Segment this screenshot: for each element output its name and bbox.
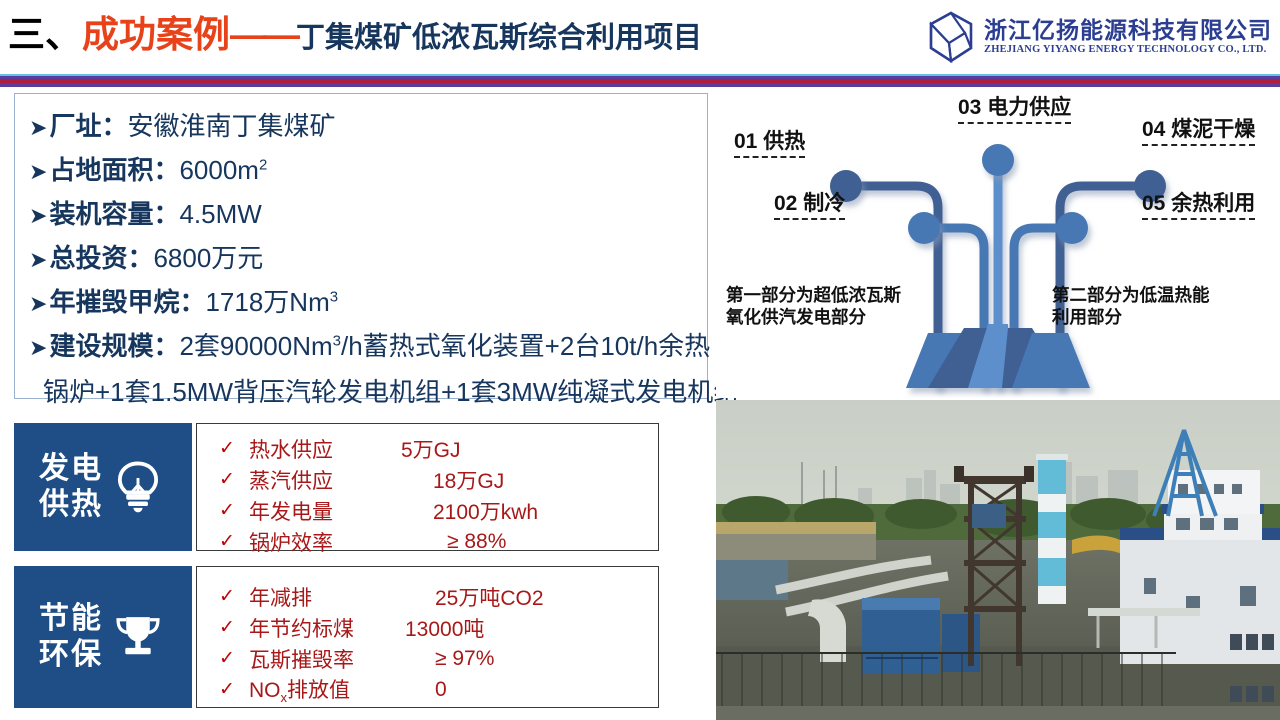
- info-value: 4.5MW: [179, 199, 261, 230]
- info-value: 2套90000Nm3/h蓄热式氧化装置+2台10t/h余热: [179, 326, 710, 363]
- hexagon-logo-icon: [928, 11, 974, 63]
- list-item: ➤ 占地面积： 6000m2: [29, 150, 707, 194]
- metric-label: NOx排放值: [249, 674, 401, 705]
- diagram-label-04: 04 煤泥干燥: [1142, 118, 1255, 146]
- fan-base: [906, 324, 1090, 388]
- table-row: ✓ 年节约标煤 13000吨: [197, 612, 658, 643]
- page-title: 三、成功案例——丁集煤矿低浓瓦斯综合利用项目: [8, 12, 702, 61]
- title-main: 成功案例: [82, 14, 230, 55]
- list-item: ➤ 年摧毁甲烷： 1718万Nm3: [29, 282, 707, 326]
- metric-label: 锅炉效率: [249, 527, 401, 557]
- logo-company-cn: 浙江亿扬能源科技有限公司: [984, 17, 1272, 43]
- check-icon: ✓: [219, 499, 249, 522]
- trophy-icon: [109, 608, 167, 666]
- metric-value: 2100万kwh: [401, 496, 538, 526]
- power-heat-metrics-box: ✓ 热水供应 5万GJ ✓ 蒸汽供应 18万GJ ✓ 年发电量 2100万kwh…: [196, 423, 659, 551]
- list-item: ➤ 建设规模： 2套90000Nm3/h蓄热式氧化装置+2台10t/h余热: [29, 326, 707, 370]
- energy-env-metrics-box: ✓ 年减排 25万吨CO2 ✓ 年节约标煤 13000吨 ✓ 瓦斯摧毁率 ≥ 9…: [196, 566, 659, 708]
- slide-root: 三、成功案例——丁集煤矿低浓瓦斯综合利用项目 浙江亿扬能源科技有限公司 ZHEJ…: [0, 0, 1280, 720]
- lightbulb-icon: [109, 458, 167, 516]
- diagram-label-02: 02 制冷: [774, 192, 845, 220]
- info-key: 装机容量：: [49, 194, 179, 231]
- section-tag-energy-env: 节能 环保: [14, 566, 192, 708]
- check-icon: ✓: [219, 585, 249, 608]
- project-info-box: ➤ 厂址： 安徽淮南丁集煤矿 ➤ 占地面积： 6000m2 ➤ 装机容量： 4.…: [14, 93, 708, 399]
- info-value: 6000m2: [179, 155, 267, 186]
- metric-value: 0: [401, 678, 447, 702]
- info-key: 建设规模：: [49, 326, 179, 363]
- info-key: 总投资：: [49, 238, 153, 275]
- diagram-label-05: 05 余热利用: [1142, 192, 1255, 220]
- info-value: 6800万元: [153, 238, 263, 275]
- site-photo-illustration: [716, 400, 1280, 720]
- table-row: ✓ 年发电量 2100万kwh: [197, 495, 658, 526]
- bullet-arrow-icon: ➤: [29, 249, 47, 271]
- diagram-note-left: 第一部分为超低浓瓦斯 氧化供汽发电部分: [726, 284, 901, 328]
- info-value: 1718万Nm3: [205, 282, 338, 319]
- metric-label: 热水供应: [249, 434, 401, 464]
- info-key: 年摧毁甲烷：: [49, 282, 205, 319]
- bullet-arrow-icon: ➤: [29, 161, 47, 183]
- diagram-label-03: 03 电力供应: [958, 96, 1071, 124]
- metric-label: 瓦斯摧毁率: [249, 644, 401, 674]
- metric-label: 年发电量: [249, 496, 401, 526]
- project-info-list: ➤ 厂址： 安徽淮南丁集煤矿 ➤ 占地面积： 6000m2 ➤ 装机容量： 4.…: [15, 94, 707, 414]
- metric-value: 18万GJ: [401, 465, 504, 495]
- title-subtitle: 丁集煤矿低浓瓦斯综合利用项目: [296, 22, 702, 54]
- bullet-arrow-icon: ➤: [29, 205, 47, 227]
- metric-value: 13000吨: [401, 613, 484, 643]
- check-icon: ✓: [219, 530, 249, 553]
- node-02: [908, 212, 940, 244]
- table-row: ✓ 热水供应 5万GJ: [197, 433, 658, 464]
- table-row: ✓ NOx排放值 0: [197, 674, 658, 705]
- metric-value: 5万GJ: [401, 434, 461, 464]
- bullet-arrow-icon: ➤: [29, 117, 47, 139]
- node-05: [1056, 212, 1088, 244]
- energy-flow-diagram: 01 供热 02 制冷 03 电力供应 04 煤泥干燥 05 余热利用 第一部分…: [716, 88, 1280, 398]
- list-item: ➤ 总投资： 6800万元: [29, 238, 707, 282]
- title-number: 三、: [8, 14, 82, 55]
- metric-label: 年减排: [249, 582, 401, 612]
- list-item: ➤ 装机容量： 4.5MW: [29, 194, 707, 238]
- metric-label: 年节约标煤: [249, 613, 401, 643]
- info-value: 安徽淮南丁集煤矿: [127, 106, 335, 143]
- table-row: ✓ 瓦斯摧毁率 ≥ 97%: [197, 643, 658, 674]
- metric-value: ≥ 88%: [401, 530, 506, 554]
- section-tag-label: 发电 供热: [39, 451, 103, 523]
- check-icon: ✓: [219, 616, 249, 639]
- table-row: ✓ 年减排 25万吨CO2: [197, 581, 658, 612]
- table-row: ✓ 蒸汽供应 18万GJ: [197, 464, 658, 495]
- bullet-arrow-icon: ➤: [29, 337, 47, 359]
- info-key: 厂址：: [49, 106, 127, 143]
- company-logo: 浙江亿扬能源科技有限公司 ZHEJIANG YIYANG ENERGY TECH…: [928, 8, 1272, 66]
- slide-header: 三、成功案例——丁集煤矿低浓瓦斯综合利用项目 浙江亿扬能源科技有限公司 ZHEJ…: [0, 0, 1280, 75]
- check-icon: ✓: [219, 678, 249, 701]
- metric-value: ≥ 97%: [401, 647, 494, 671]
- check-icon: ✓: [219, 437, 249, 460]
- project-site-photo: [716, 400, 1280, 720]
- list-item: ➤ 厂址： 安徽淮南丁集煤矿: [29, 106, 707, 150]
- section-tag-power-heat: 发电 供热: [14, 423, 192, 551]
- diagram-note-right: 第二部分为低温热能 利用部分: [1052, 284, 1210, 328]
- title-dash: ——: [230, 14, 296, 55]
- metric-value: 25万吨CO2: [401, 582, 544, 612]
- diagram-label-01: 01 供热: [734, 130, 805, 158]
- logo-company-en: ZHEJIANG YIYANG ENERGY TECHNOLOGY CO., L…: [984, 43, 1272, 57]
- info-wrap-line: 锅炉+1套1.5MW背压汽轮发电机组+1套3MW纯凝式发电机组: [29, 370, 707, 414]
- bullet-arrow-icon: ➤: [29, 293, 47, 315]
- header-divider: [0, 74, 1280, 87]
- info-key: 占地面积：: [49, 150, 179, 187]
- section-tag-label: 节能 环保: [39, 601, 103, 673]
- check-icon: ✓: [219, 468, 249, 491]
- metric-label: 蒸汽供应: [249, 465, 401, 495]
- node-03: [982, 144, 1014, 176]
- table-row: ✓ 锅炉效率 ≥ 88%: [197, 526, 658, 557]
- check-icon: ✓: [219, 647, 249, 670]
